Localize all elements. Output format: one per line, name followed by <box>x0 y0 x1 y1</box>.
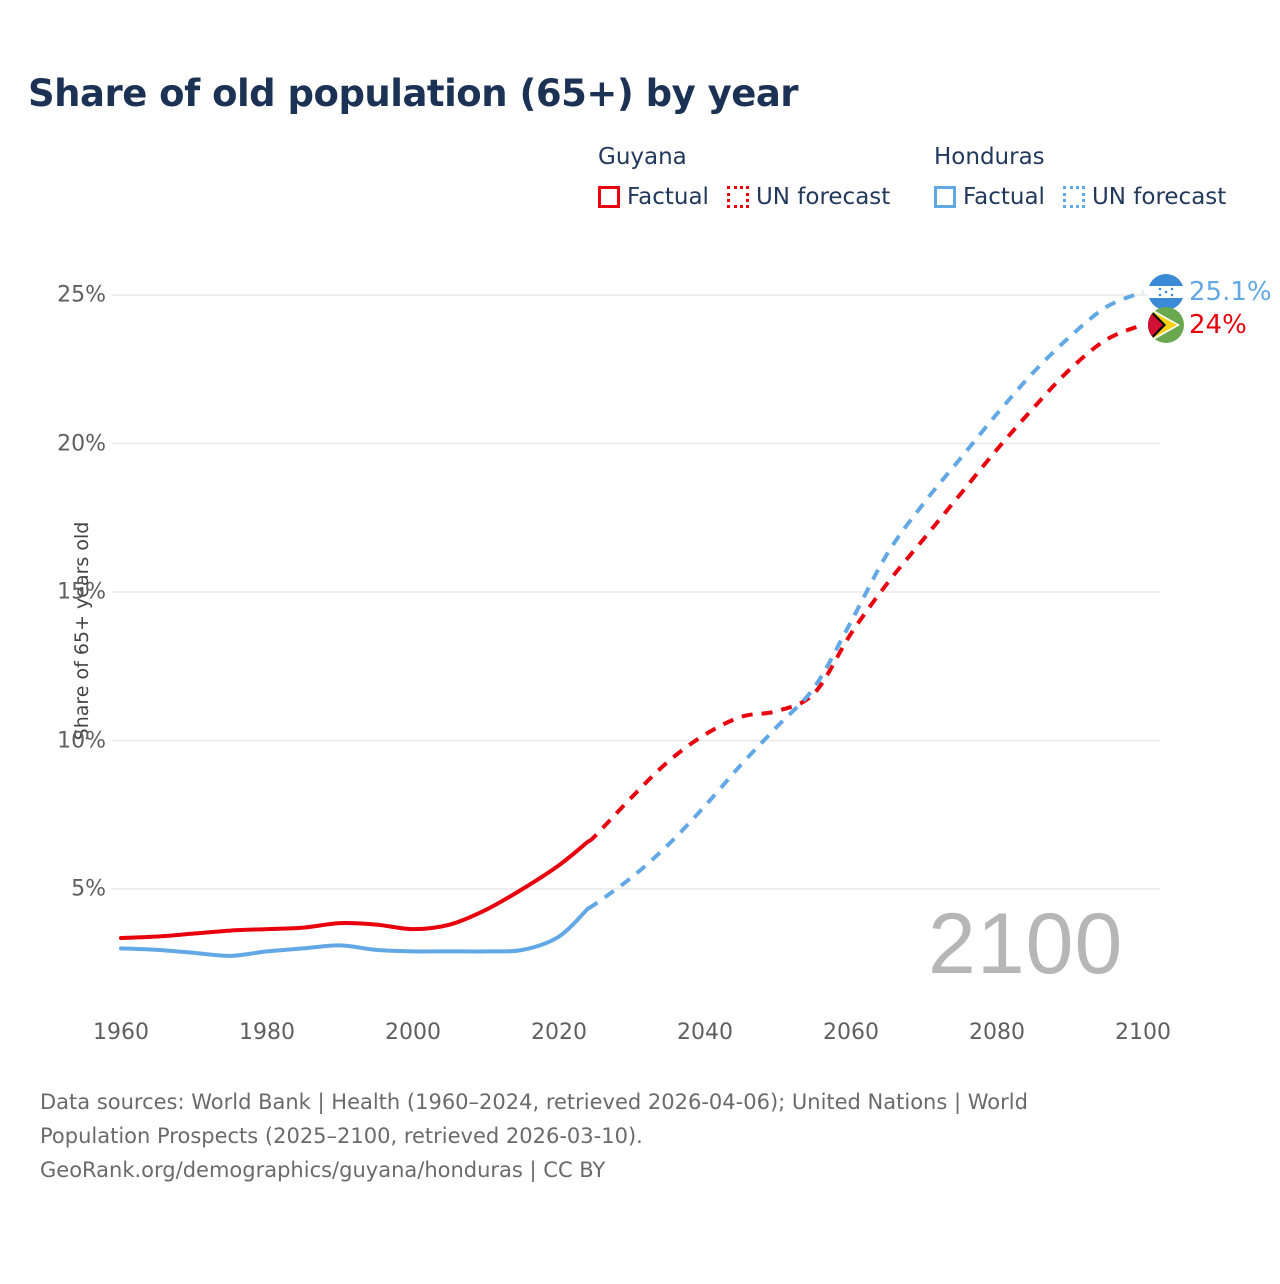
x-axis-tick-label: 1980 <box>222 1020 312 1045</box>
end-label-honduras: 25.1% <box>1148 274 1272 310</box>
y-axis-tick-label: 5% <box>6 877 106 902</box>
y-axis-label: Share of 65+ years old <box>71 501 93 761</box>
series-line-forecast-honduras <box>588 292 1143 908</box>
legend-item-label: UN forecast <box>1092 184 1226 210</box>
page-title: Share of old population (65+) by year <box>28 72 798 115</box>
series-line-forecast-guyana <box>588 325 1143 842</box>
x-axis-tick-label: 2080 <box>952 1020 1042 1045</box>
x-axis-tick-label: 2000 <box>368 1020 458 1045</box>
y-axis-tick-label: 25% <box>6 283 106 308</box>
footer-line-3[interactable]: GeoRank.org/demographics/guyana/honduras… <box>40 1153 1170 1187</box>
dotted-square-outline-icon <box>727 186 749 208</box>
legend-item-honduras-forecast[interactable]: UN forecast <box>1063 184 1226 210</box>
y-axis-tick-label: 20% <box>6 431 106 456</box>
legend-item-honduras-factual[interactable]: Factual <box>934 184 1045 210</box>
footer-line-2: Population Prospects (2025–2100, retriev… <box>40 1119 1170 1153</box>
footer-sources: Data sources: World Bank | Health (1960–… <box>40 1085 1170 1187</box>
y-axis-tick-label: 15% <box>6 580 106 605</box>
series-line-factual-honduras <box>121 908 588 956</box>
legend-group-honduras: Honduras Factual UN forecast <box>934 142 1226 210</box>
year-watermark: 2100 <box>928 895 1123 994</box>
x-axis-tick-label: 2100 <box>1098 1020 1188 1045</box>
guyana-flag-icon <box>1148 307 1184 343</box>
legend-item-label: Factual <box>627 184 709 210</box>
y-axis-tick-label: 10% <box>6 728 106 753</box>
legend-group-guyana: Guyana Factual UN forecast <box>598 142 890 210</box>
legend-group-title: Guyana <box>598 142 890 172</box>
x-axis-tick-label: 2040 <box>660 1020 750 1045</box>
chart-page: Share of old population (65+) by year Gu… <box>0 0 1280 1280</box>
series-line-factual-guyana <box>121 841 588 938</box>
footer-line-1: Data sources: World Bank | Health (1960–… <box>40 1085 1170 1119</box>
end-label-guyana: 24% <box>1148 307 1247 343</box>
dotted-square-outline-icon <box>1063 186 1085 208</box>
legend-group-title: Honduras <box>934 142 1226 172</box>
chart-legend: Guyana Factual UN forecast Honduras Fact… <box>598 142 1258 222</box>
end-label-value: 25.1% <box>1189 277 1272 307</box>
x-axis-tick-label: 2020 <box>514 1020 604 1045</box>
honduras-flag-icon <box>1148 274 1184 310</box>
x-axis-tick-label: 1960 <box>76 1020 166 1045</box>
legend-item-label: UN forecast <box>756 184 890 210</box>
end-label-value: 24% <box>1189 310 1247 340</box>
legend-item-guyana-forecast[interactable]: UN forecast <box>727 184 890 210</box>
legend-item-label: Factual <box>963 184 1045 210</box>
x-axis-tick-label: 2060 <box>806 1020 896 1045</box>
legend-item-guyana-factual[interactable]: Factual <box>598 184 709 210</box>
solid-square-outline-icon <box>598 186 620 208</box>
solid-square-outline-icon <box>934 186 956 208</box>
